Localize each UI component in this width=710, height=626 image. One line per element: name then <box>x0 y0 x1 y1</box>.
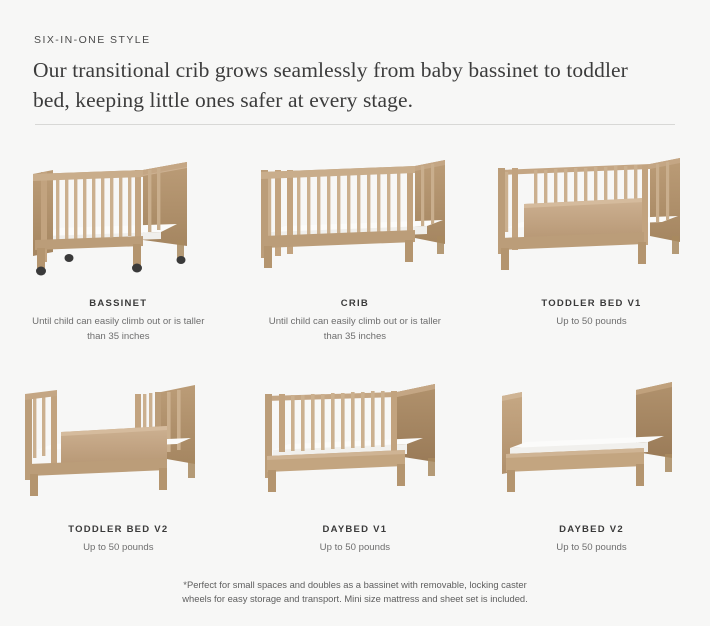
header-divider <box>35 124 675 125</box>
stage-row-2: TODDLER BED V2 Up to 50 pounds <box>0 366 710 556</box>
footnote: *Perfect for small spaces and doubles as… <box>0 578 710 606</box>
bassinet-illustration <box>11 140 226 290</box>
footnote-line-2: wheels for easy storage and transport. M… <box>0 592 710 606</box>
stage-grid: BASSINET Until child can easily climb ou… <box>0 140 710 556</box>
daybed-v2-illustration <box>484 366 699 516</box>
stage-card-crib[interactable]: CRIB Until child can easily climb out or… <box>237 140 474 344</box>
stage-description: Up to 50 pounds <box>320 541 390 556</box>
stage-title: CRIB <box>341 298 369 309</box>
six-in-one-style-panel: SIX-IN-ONE STYLE Our transitional crib g… <box>0 0 710 626</box>
stage-title: DAYBED V1 <box>323 524 388 535</box>
stage-desc-line-1: Up to 50 pounds <box>83 542 153 553</box>
daybed-v1-illustration <box>247 366 462 516</box>
stage-description: Until child can easily climb out or is t… <box>23 315 213 344</box>
stage-title: BASSINET <box>89 298 147 309</box>
toddler-bed-v1-illustration <box>484 140 699 290</box>
stage-title: DAYBED V2 <box>559 524 624 535</box>
stage-desc-line-1: Up to 50 pounds <box>556 316 626 327</box>
stage-card-toddler-bed-v2[interactable]: TODDLER BED V2 Up to 50 pounds <box>0 366 237 556</box>
stage-desc-line-1: Up to 50 pounds <box>556 542 626 553</box>
crib-illustration <box>247 140 462 290</box>
stage-title: TODDLER BED V1 <box>541 298 641 309</box>
stage-description: Up to 50 pounds <box>556 315 626 330</box>
stage-desc-line-1: Until child can easily climb <box>32 316 144 327</box>
stage-card-bassinet[interactable]: BASSINET Until child can easily climb ou… <box>0 140 237 344</box>
stage-card-daybed-v2[interactable]: DAYBED V2 Up to 50 pounds <box>473 366 710 556</box>
stage-description: Until child can easily climb out or is t… <box>260 315 450 344</box>
stage-card-daybed-v1[interactable]: DAYBED V1 Up to 50 pounds <box>237 366 474 556</box>
stage-desc-line-1: Up to 50 pounds <box>320 542 390 553</box>
toddler-bed-v2-illustration <box>11 366 226 516</box>
stage-description: Up to 50 pounds <box>83 541 153 556</box>
stage-title: TODDLER BED V2 <box>68 524 168 535</box>
stage-desc-line-1: Until child can easily climb out <box>269 316 397 327</box>
stage-description: Up to 50 pounds <box>556 541 626 556</box>
stage-card-toddler-bed-v1[interactable]: TODDLER BED V1 Up to 50 pounds <box>473 140 710 344</box>
eyebrow-label: SIX-IN-ONE STYLE <box>34 34 151 46</box>
footnote-line-1: *Perfect for small spaces and doubles as… <box>0 578 710 592</box>
page-headline: Our transitional crib grows seamlessly f… <box>33 55 633 115</box>
stage-row-1: BASSINET Until child can easily climb ou… <box>0 140 710 344</box>
